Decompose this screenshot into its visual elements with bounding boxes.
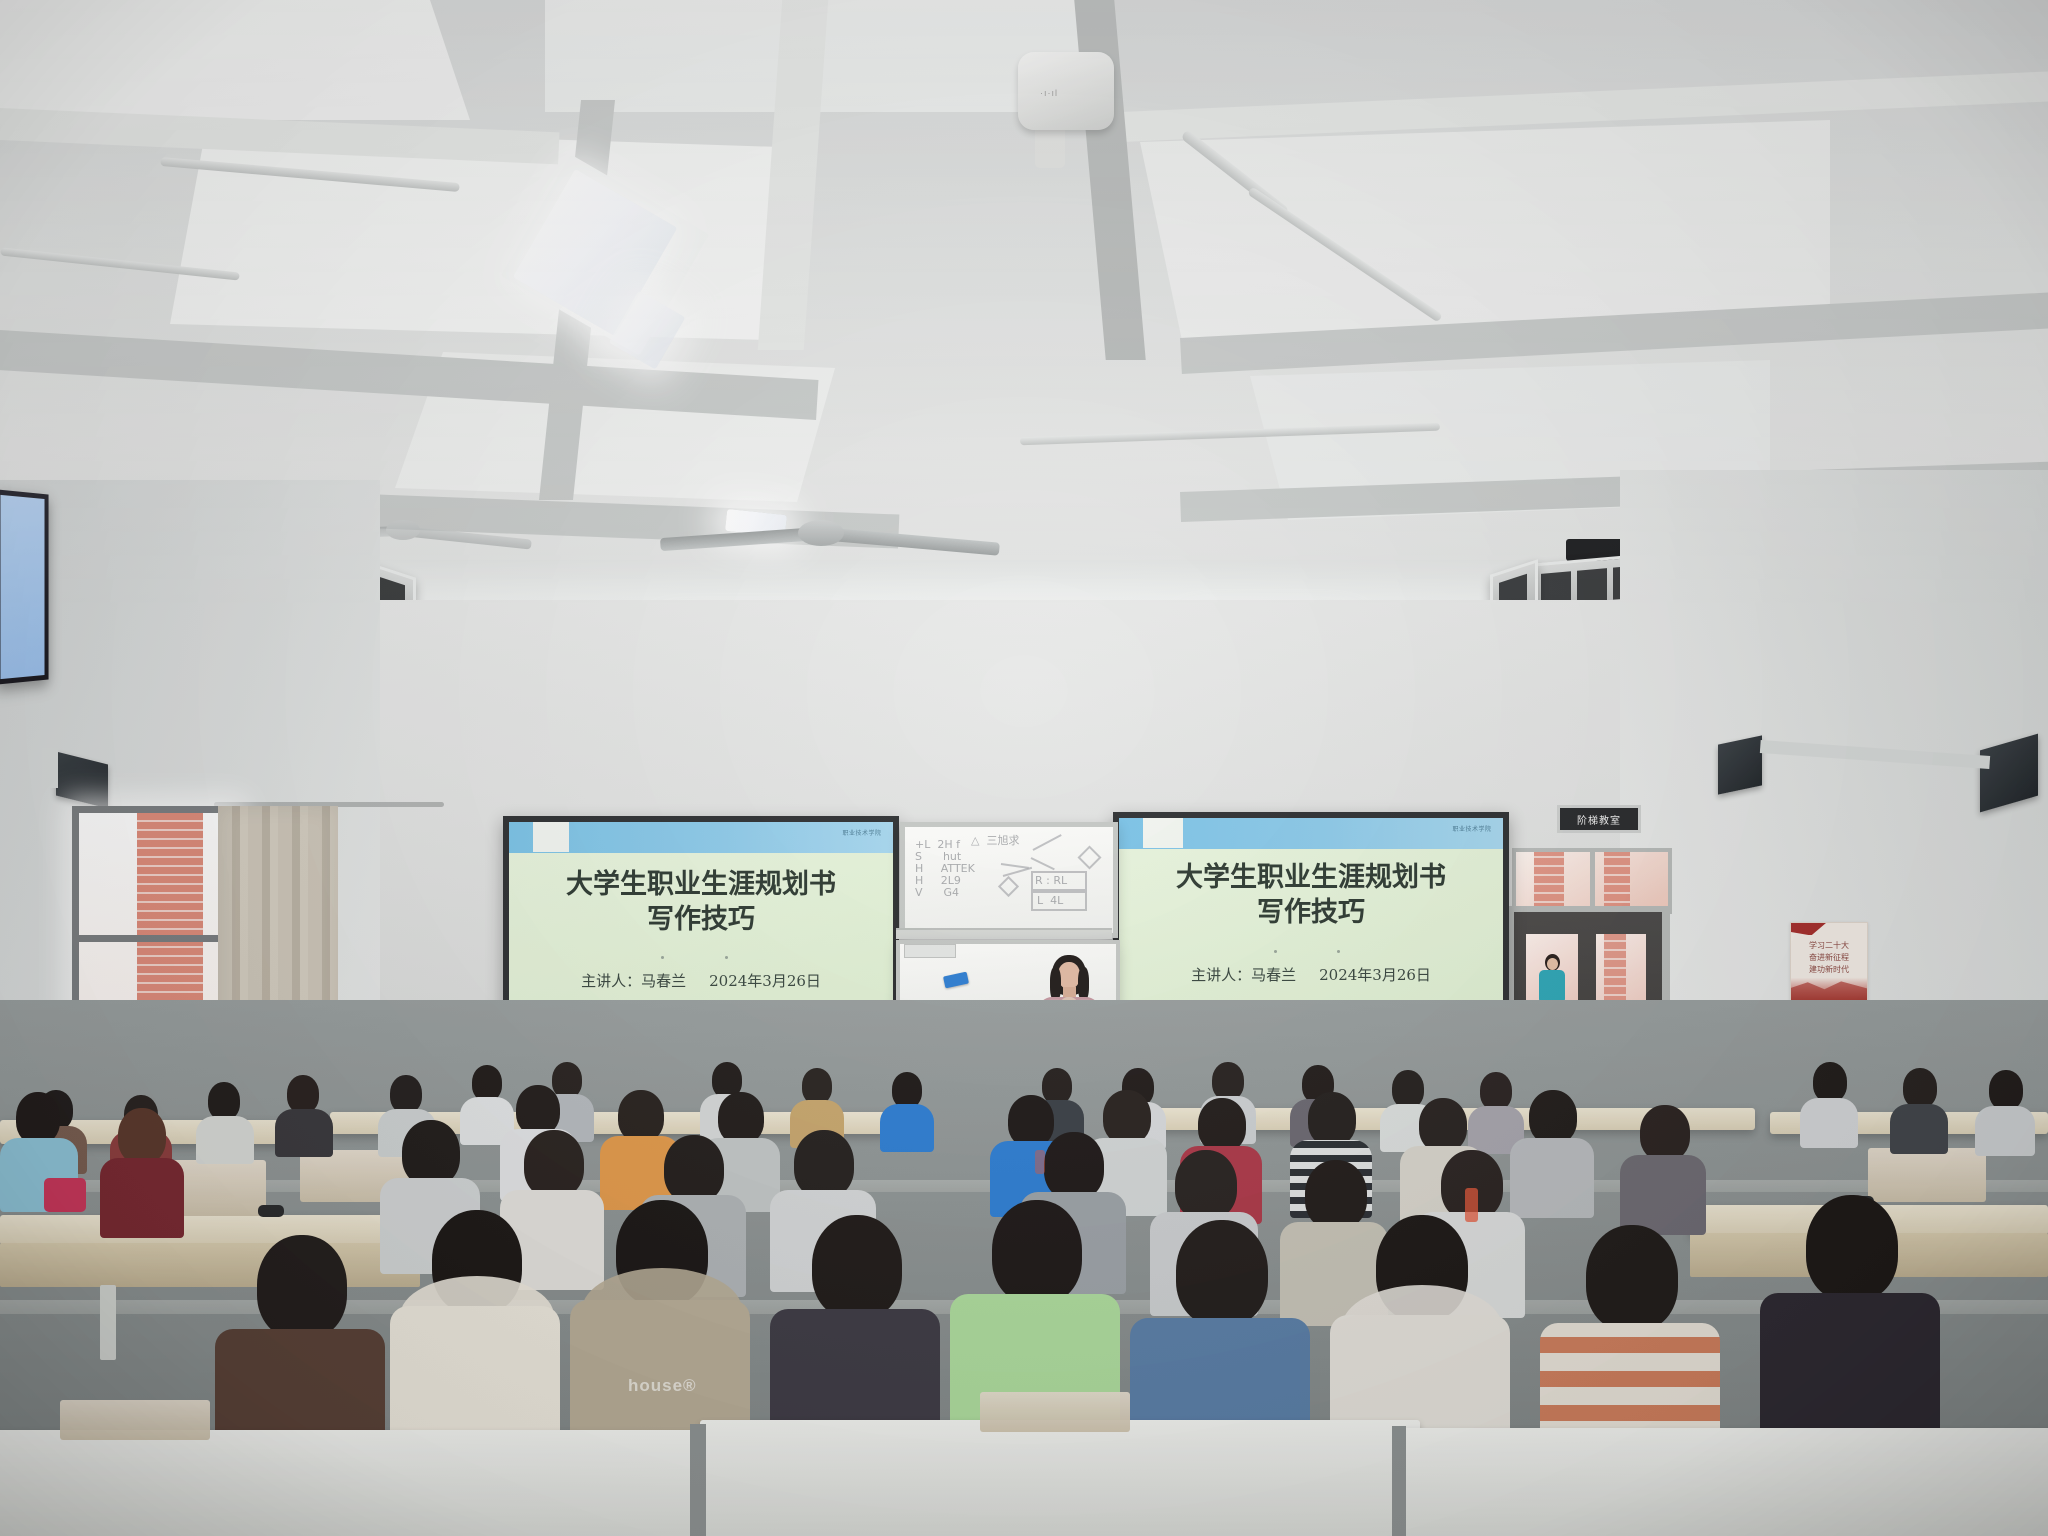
foreground-desk-rail	[0, 1430, 720, 1536]
backpack	[44, 1178, 86, 1212]
foreground-desk-gap	[690, 1424, 706, 1536]
poster-line3: 建功新时代	[1791, 965, 1867, 976]
poster-accent	[1791, 923, 1826, 935]
slide-meta: 主讲人：马春兰 2024年3月26日	[509, 970, 893, 991]
door-transom	[1512, 848, 1672, 914]
slide-title-line2: 写作技巧	[1119, 897, 1503, 930]
slide-date: 2024年3月26日	[1319, 964, 1431, 985]
desk-leg	[100, 1285, 116, 1360]
student	[275, 1075, 333, 1155]
whiteboard-notes-left: +L 2H f S hut H ATTEK H 2L9 V G4	[915, 839, 975, 899]
student	[880, 1072, 934, 1150]
wifi-ap-label: ·ı·ıl	[1040, 88, 1058, 98]
whiteboard-tray	[896, 928, 1112, 939]
foreground-seat[interactable]	[60, 1400, 210, 1440]
slide-presenter: 主讲人：马春兰	[1191, 964, 1296, 985]
hoodie-logo: house®	[628, 1376, 697, 1396]
ceiling-coffer	[0, 0, 470, 120]
slide-presenter: 主讲人：马春兰	[581, 970, 686, 991]
wall-display-screen	[0, 495, 44, 679]
slide-title-line2: 写作技巧	[509, 904, 893, 937]
ceiling-beam	[0, 330, 818, 420]
slide-logo: 职业技术学院	[1452, 824, 1491, 833]
room-number-sign: 阶梯教室	[1557, 805, 1641, 833]
presenter-hair-side	[1078, 967, 1089, 1001]
wall-display-monitor[interactable]	[0, 489, 49, 684]
wifi-access-point-icon: ·ı·ıl	[1018, 52, 1114, 130]
student	[100, 1108, 184, 1234]
seat-back[interactable]	[1868, 1148, 1986, 1202]
presenter-face	[1058, 962, 1080, 989]
drink-bottle	[1465, 1188, 1478, 1222]
whiteboard: +L 2H f S hut H ATTEK H 2L9 V G4 △ 三旭求 R…	[900, 822, 1118, 938]
student	[1890, 1068, 1948, 1152]
student	[1760, 1195, 1940, 1453]
student	[196, 1082, 254, 1162]
slide-meta: 主讲人：马春兰 2024年3月26日	[1119, 964, 1503, 985]
foreground-desk-gap	[1392, 1426, 1406, 1536]
room-sign-label: 阶梯教室	[1577, 812, 1621, 827]
classroom-photo: ·ı·ıl	[0, 0, 2048, 1536]
poster-line1: 学习二十大	[1791, 941, 1867, 952]
presenter-hair-side	[1050, 967, 1061, 1001]
foreground-seat[interactable]	[980, 1392, 1130, 1432]
slide-date: 2024年3月26日	[709, 970, 821, 991]
speaker-bracket	[42, 748, 58, 788]
armrest	[258, 1205, 284, 1217]
student	[1800, 1062, 1858, 1146]
foreground-desk-rail	[1400, 1428, 2048, 1536]
student	[390, 1210, 560, 1460]
foreground-desk-rail	[700, 1420, 1420, 1536]
poster-line2: 奋进新征程	[1791, 953, 1867, 964]
drink-bottle	[1035, 1150, 1045, 1174]
slide-header-notch	[533, 822, 569, 852]
slide-logo: 职业技术学院	[842, 828, 881, 837]
whiteboard-notes-top: △ 三旭求	[971, 835, 1019, 847]
student	[1620, 1105, 1706, 1233]
slide-title-line1: 大学生职业生涯规划书	[1119, 862, 1503, 895]
speaker-icon	[1718, 735, 1762, 794]
slide-header-notch	[1143, 818, 1183, 848]
poster-illustration	[1791, 978, 1867, 1001]
student	[1975, 1070, 2035, 1154]
slide-title-line1: 大学生职业生涯规划书	[509, 869, 893, 902]
whiteboard-label-sign	[904, 944, 956, 958]
wall-poster: 学习二十大 奋进新征程 建功新时代	[1790, 922, 1868, 1002]
